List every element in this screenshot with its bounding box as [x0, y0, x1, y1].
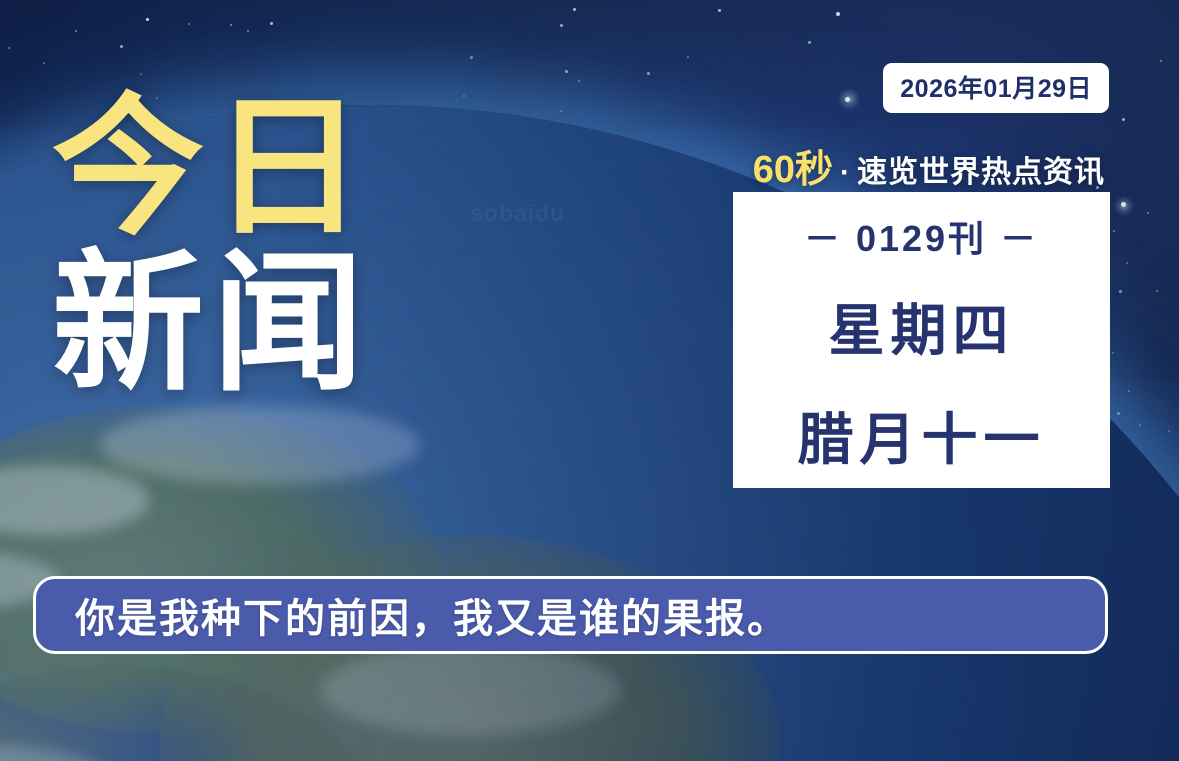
issue-info-card: － 0129刊 － 星期四 腊月十一: [733, 192, 1110, 488]
background-watermark: sobaidu: [470, 200, 565, 227]
lunar-date-label: 腊月十一: [798, 395, 1046, 476]
weekday-label: 星期四: [829, 286, 1015, 367]
news-poster: sobaidu 今日 新闻 2026年01月29日 60秒 · 速览世界热点资讯…: [0, 0, 1179, 761]
tagline-text: 速览世界热点资讯: [857, 147, 1105, 191]
tagline-separator: ·: [840, 156, 850, 190]
quote-bar: 你是我种下的前因，我又是谁的果报。: [33, 576, 1108, 654]
title-line-today: 今日: [52, 96, 372, 240]
tagline: 60秒 · 速览世界热点资讯: [753, 138, 1105, 193]
title-line-news: 新闻: [52, 252, 372, 396]
tagline-seconds: 60秒: [753, 138, 833, 193]
issue-number: － 0129刊 －: [804, 210, 1039, 262]
poster-title: 今日 新闻: [52, 96, 372, 397]
date-badge: 2026年01月29日: [883, 63, 1109, 113]
quote-text: 你是我种下的前因，我又是谁的果报。: [75, 586, 789, 644]
